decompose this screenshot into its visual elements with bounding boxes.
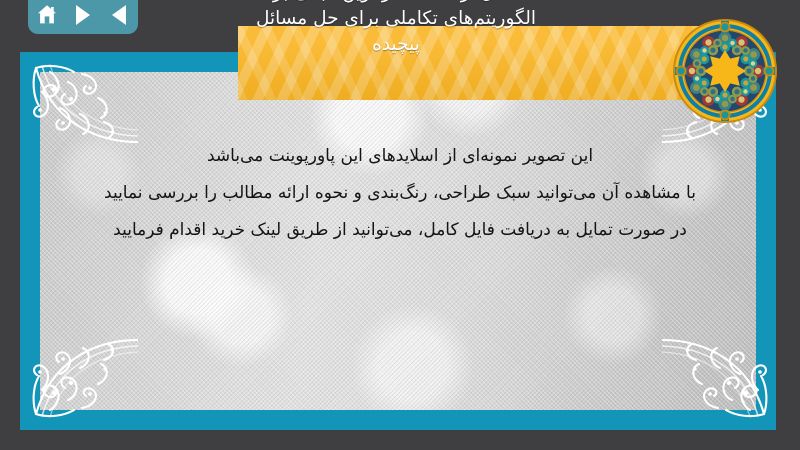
home-button[interactable] bbox=[34, 3, 60, 27]
navigation-controls bbox=[28, 0, 138, 34]
forward-button[interactable] bbox=[70, 3, 96, 27]
body-line-1: این تصویر نمونه‌ای از اسلایدهای این پاور… bbox=[40, 138, 760, 175]
slide-body-text: این تصویر نمونه‌ای از اسلایدهای این پاور… bbox=[40, 138, 760, 249]
medallion-ornament-icon bbox=[672, 18, 778, 124]
home-icon bbox=[35, 4, 59, 26]
banner-body bbox=[238, 26, 704, 100]
back-button[interactable] bbox=[106, 3, 132, 27]
body-line-2: با مشاهده آن می‌توانید سبک طراحی، رنگ‌بن… bbox=[40, 175, 760, 212]
slide-root: کامل ارائه ساختار نوین مبتنی بر الگوریتم… bbox=[0, 0, 800, 450]
title-banner bbox=[238, 26, 724, 100]
body-line-3: در صورت تمایل به دریافت فایل کامل، می‌تو… bbox=[40, 212, 760, 249]
arrow-left-icon bbox=[112, 5, 126, 25]
arrow-right-icon bbox=[76, 5, 90, 25]
